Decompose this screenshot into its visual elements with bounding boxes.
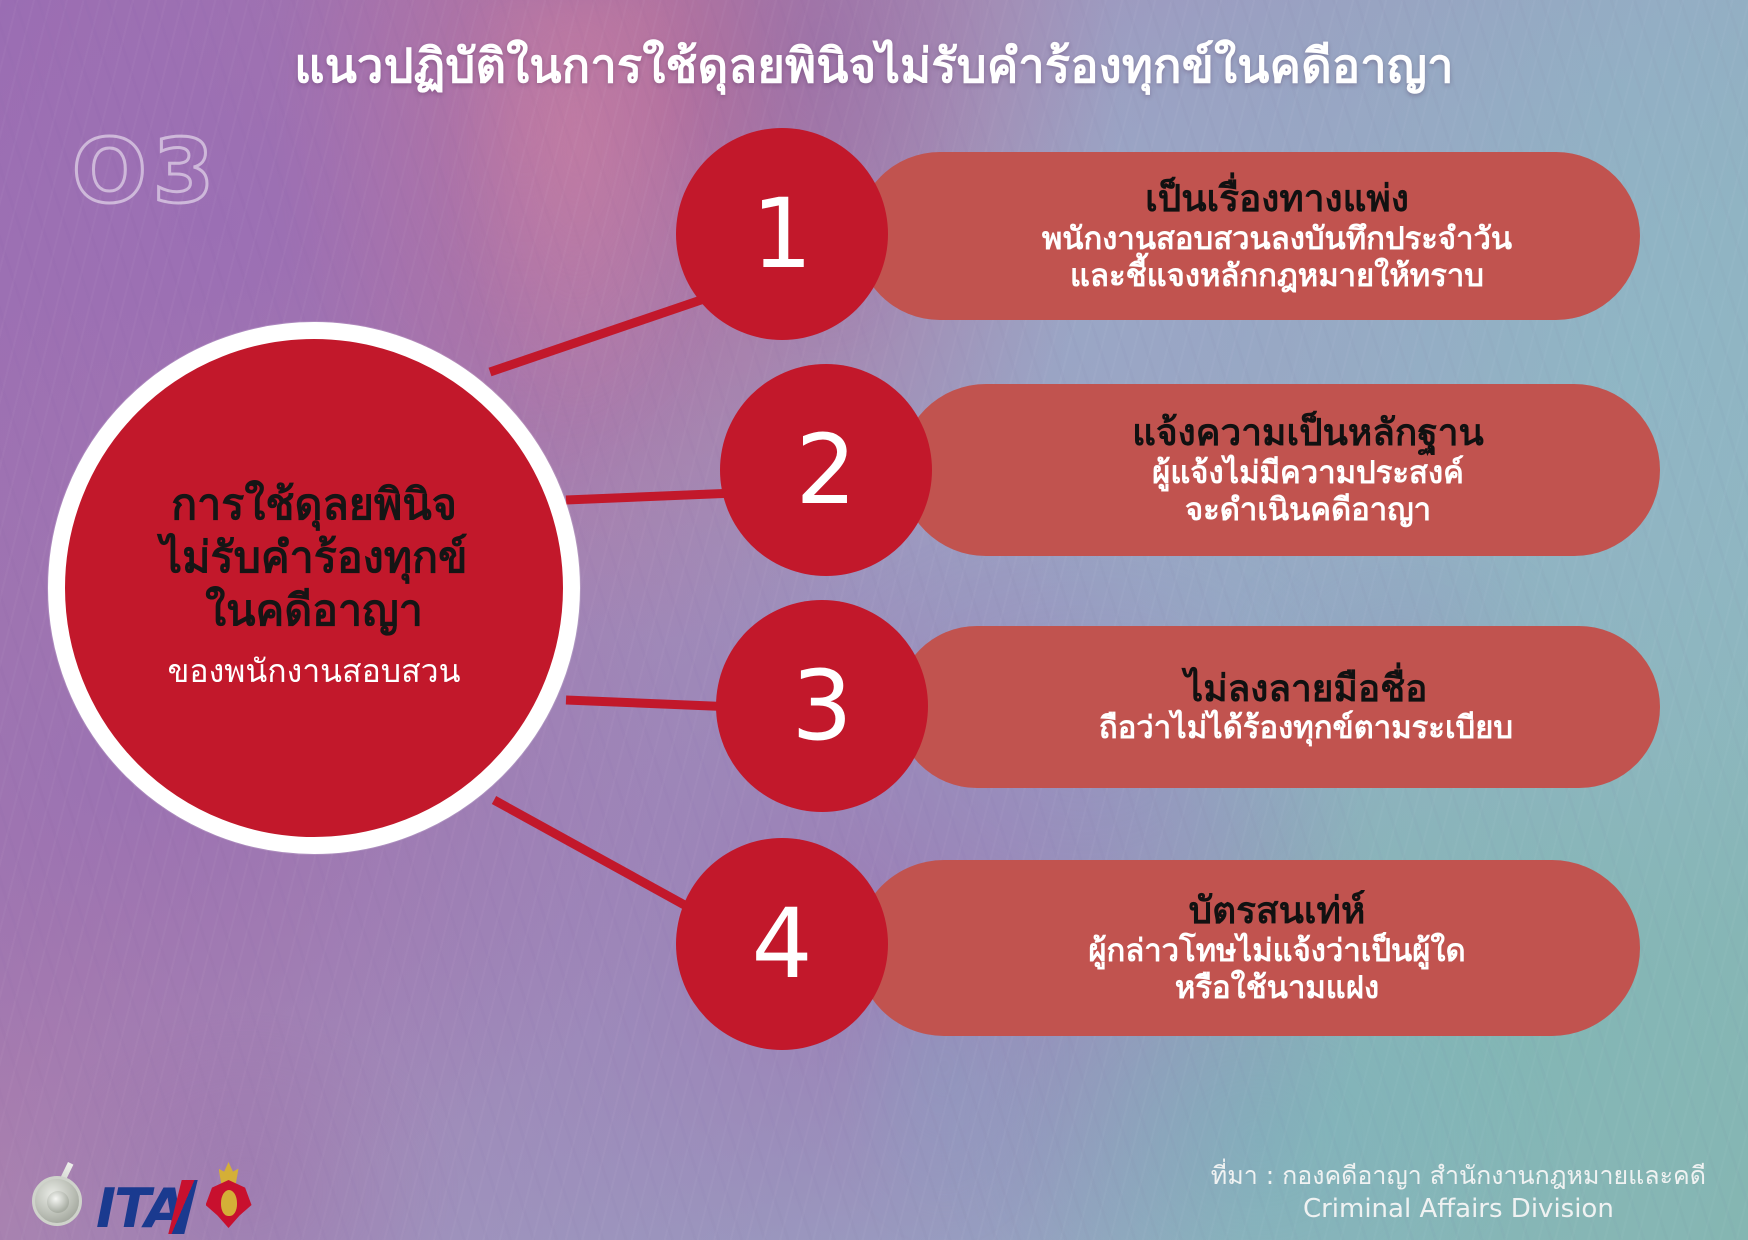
garuda-emblem-icon bbox=[201, 1160, 257, 1234]
credit-line-english: Criminal Affairs Division bbox=[1211, 1192, 1706, 1226]
step-4-desc-line-1: ผู้กล่าวโทษไม่แจ้งว่าเป็นผู้ใด bbox=[1088, 933, 1465, 970]
logo-group: ITA bbox=[28, 1160, 257, 1234]
hub-line-1: การใช้ดุลยพินิจ bbox=[171, 479, 457, 532]
step-1-desc-line-2: และชี้แจงหลักกฎหมายให้ทราบ bbox=[1070, 258, 1484, 295]
credit-line-thai: ที่มา : กองคดีอาญา สำนักงานกฎหมายและคดี bbox=[1211, 1159, 1706, 1192]
step-4-desc-line-2: หรือใช้นามแฝง bbox=[1175, 970, 1379, 1007]
hub-line-3: ในคดีอาญา bbox=[205, 585, 423, 638]
step-1-panel: เป็นเรื่องทางแพ่ง พนักงานสอบสวนลงบันทึกป… bbox=[856, 152, 1640, 320]
step-1-heading: เป็นเรื่องทางแพ่ง bbox=[1145, 177, 1409, 221]
step-2-panel: แจ้งความเป็นหลักฐาน ผู้แจ้งไม่มีความประส… bbox=[900, 384, 1660, 556]
step-2-number-badge: 2 bbox=[720, 364, 932, 576]
source-credit: ที่มา : กองคดีอาญา สำนักงานกฎหมายและคดี … bbox=[1211, 1159, 1706, 1226]
step-2-desc-line-1: ผู้แจ้งไม่มีความประสงค์ bbox=[1152, 455, 1464, 492]
step-2-desc-line-2: จะดำเนินคดีอาญา bbox=[1185, 492, 1431, 529]
ita-logo: ITA bbox=[96, 1180, 191, 1234]
step-4-panel: บัตรสนเท่ห์ ผู้กล่าวโทษไม่แจ้งว่าเป็นผู้… bbox=[856, 860, 1640, 1036]
step-3-number-badge: 3 bbox=[716, 600, 928, 812]
hub-line-2: ไม่รับคำร้องทุกข์ bbox=[161, 532, 468, 585]
step-1-number-badge: 1 bbox=[676, 128, 888, 340]
step-2-heading: แจ้งความเป็นหลักฐาน bbox=[1132, 411, 1484, 455]
step-3-desc-line-1: ถือว่าไม่ได้ร้องทุกข์ตามระเบียบ bbox=[1099, 710, 1513, 747]
garuda-body-shape bbox=[206, 1180, 252, 1228]
step-4-heading: บัตรสนเท่ห์ bbox=[1189, 889, 1366, 933]
central-hub: การใช้ดุลยพินิจ ไม่รับคำร้องทุกข์ ในคดีอ… bbox=[48, 322, 580, 854]
step-3-heading: ไม่ลงลายมือชื่อ bbox=[1185, 667, 1428, 711]
step-4-number-badge: 4 bbox=[676, 838, 888, 1050]
step-1-desc-line-1: พนักงานสอบสวนลงบันทึกประจำวัน bbox=[1042, 221, 1512, 258]
shield-disc-shape bbox=[32, 1176, 82, 1226]
step-3-panel: ไม่ลงลายมือชื่อ ถือว่าไม่ได้ร้องทุกข์ตาม… bbox=[896, 626, 1660, 788]
police-emblem-icon bbox=[28, 1162, 86, 1234]
hub-subtitle: ของพนักงานสอบสวน bbox=[168, 646, 461, 697]
